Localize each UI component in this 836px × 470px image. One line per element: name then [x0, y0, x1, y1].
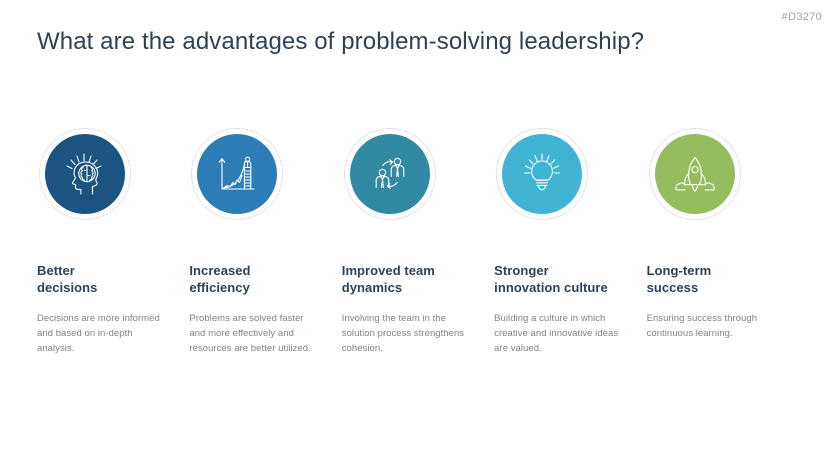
icon-circle-3 — [350, 134, 430, 214]
column-heading: Improved team dynamics — [342, 263, 435, 296]
column-heading-line2: innovation culture — [494, 280, 608, 295]
column-heading-line1: Long-term — [647, 263, 712, 278]
slide-code: #D3270 — [782, 11, 822, 23]
feature-column-increased-efficiency[interactable]: Increased efficiency Problems are solved… — [189, 128, 341, 356]
column-heading-line2: dynamics — [342, 280, 402, 295]
icon-badge — [191, 128, 283, 220]
column-body: Decisions are more informed and based on… — [37, 311, 169, 356]
column-heading: Stronger innovation culture — [494, 263, 608, 296]
column-body: Building a culture in which creative and… — [494, 311, 626, 356]
icon-circle-1 — [45, 134, 125, 214]
icon-badge — [649, 128, 741, 220]
column-body: Involving the team in the solution proce… — [342, 311, 474, 356]
column-heading-line1: Improved team — [342, 263, 435, 278]
column-body: Problems are solved faster and more effe… — [189, 311, 321, 356]
feature-column-stronger-innovation-culture[interactable]: Stronger innovation culture Building a c… — [494, 128, 646, 356]
feature-column-better-decisions[interactable]: Better decisions Decisions are more info… — [37, 128, 189, 356]
icon-circle-4 — [502, 134, 582, 214]
icon-circle-5 — [655, 134, 735, 214]
lightbulb-idea-icon — [519, 151, 565, 197]
column-heading-line1: Better — [37, 263, 75, 278]
column-heading: Better decisions — [37, 263, 97, 296]
feature-column-long-term-success[interactable]: Long-term success Ensuring success throu… — [647, 128, 799, 341]
growth-chart-person-ladder-icon — [214, 151, 260, 197]
column-body: Ensuring success through continuous lear… — [647, 311, 779, 341]
rocket-launch-icon — [672, 151, 718, 197]
head-with-brain-idea-icon — [62, 151, 108, 197]
column-heading: Increased efficiency — [189, 263, 250, 296]
icon-badge — [39, 128, 131, 220]
column-heading-line2: efficiency — [189, 280, 249, 295]
column-heading: Long-term success — [647, 263, 712, 296]
icon-badge — [344, 128, 436, 220]
column-heading-line2: decisions — [37, 280, 97, 295]
column-heading-line1: Increased — [189, 263, 250, 278]
feature-columns: Better decisions Decisions are more info… — [37, 128, 799, 356]
page-title: What are the advantages of problem-solvi… — [37, 26, 644, 58]
icon-badge — [496, 128, 588, 220]
column-heading-line1: Stronger — [494, 263, 549, 278]
icon-circle-2 — [197, 134, 277, 214]
feature-column-improved-team-dynamics[interactable]: Improved team dynamics Involving the tea… — [342, 128, 494, 356]
two-people-collaboration-cycle-icon — [367, 151, 413, 197]
column-heading-line2: success — [647, 280, 699, 295]
slide-canvas: #D3270 What are the advantages of proble… — [0, 0, 836, 470]
